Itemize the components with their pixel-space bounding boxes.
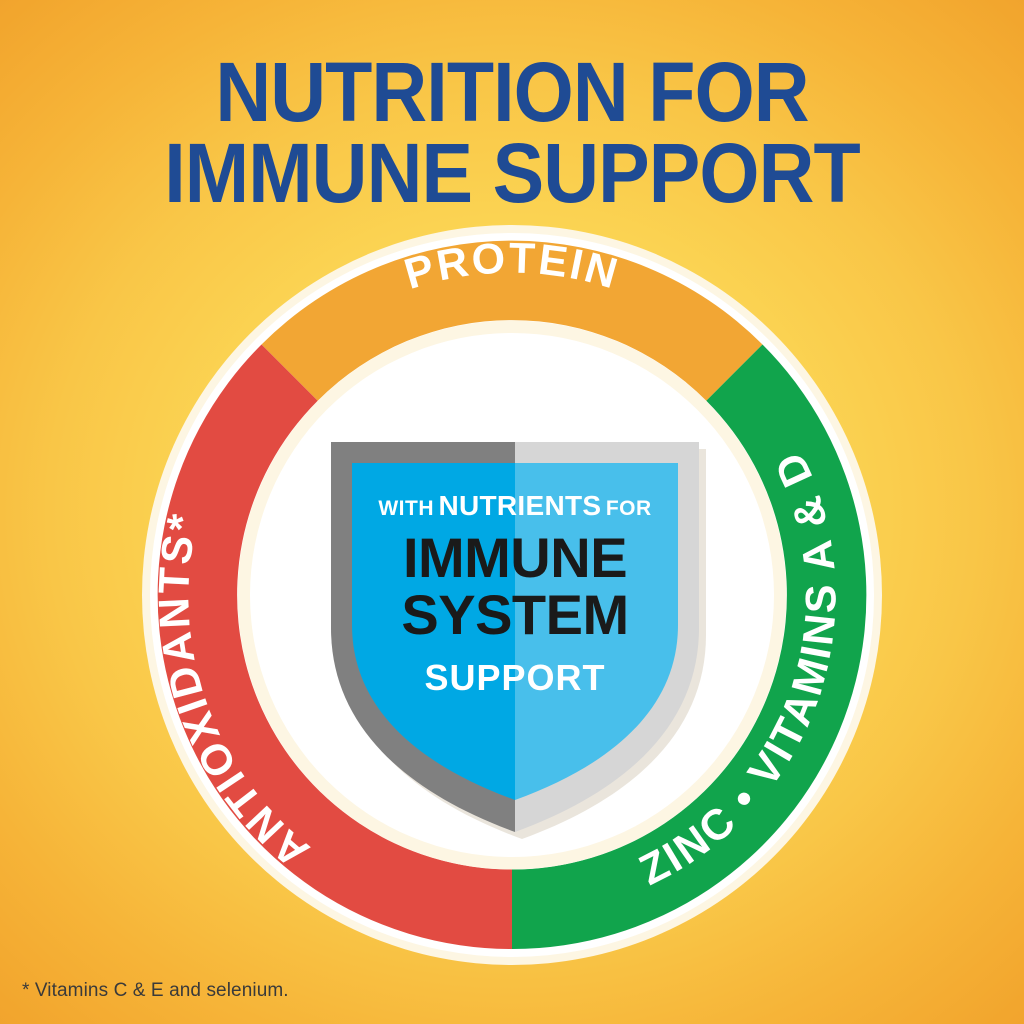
title-line-2: IMMUNE SUPPORT xyxy=(41,133,983,214)
page-title: NUTRITION FOR IMMUNE SUPPORT xyxy=(0,52,1024,213)
shield-graphic xyxy=(320,432,710,847)
footnote: * Vitamins C & E and selenium. xyxy=(22,980,289,1002)
title-line-1: NUTRITION FOR xyxy=(41,52,983,133)
immune-support-infographic: NUTRITION FOR IMMUNE SUPPORT xyxy=(0,0,1024,1024)
